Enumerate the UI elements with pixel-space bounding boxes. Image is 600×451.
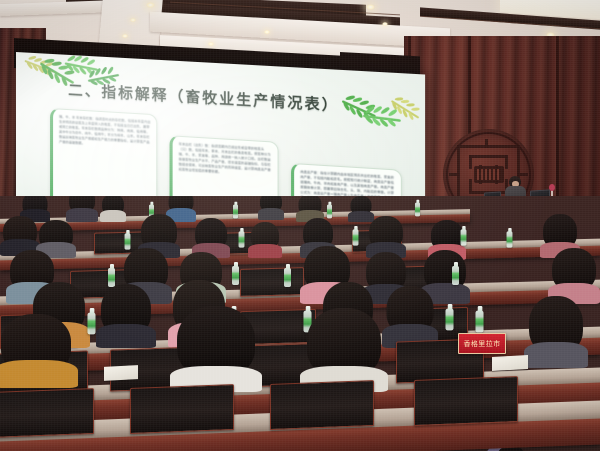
water-bottle bbox=[239, 231, 245, 247]
ceiling-downlight bbox=[366, 4, 375, 10]
water-bottle bbox=[507, 231, 513, 247]
seat-back bbox=[270, 380, 374, 430]
seat-back bbox=[0, 388, 94, 438]
water-bottle bbox=[233, 205, 238, 219]
water-bottle bbox=[461, 229, 467, 245]
water-bottle bbox=[445, 309, 453, 331]
attendee bbox=[0, 314, 78, 388]
conference-room-photo: 二、指标解释（畜牧业生产情况表） 猪、牛、羊 年末存栏数：指调查时点的存栏数，包… bbox=[0, 0, 600, 451]
ceiling-downlight bbox=[122, 34, 128, 38]
attendee bbox=[66, 196, 98, 222]
attendee bbox=[248, 222, 282, 258]
ceiling-downlight bbox=[146, 2, 155, 8]
water-bottle bbox=[232, 266, 239, 285]
paper-handout bbox=[104, 365, 138, 381]
water-bottle bbox=[87, 313, 95, 335]
water-bottle bbox=[284, 268, 291, 287]
ceiling-downlight bbox=[208, 42, 214, 46]
water-bottle bbox=[415, 203, 420, 217]
ceiling-downlight bbox=[382, 22, 388, 26]
slide-card-02-text: 年末出栏（出售）数：指调查期内已经出售或自宰的牲畜头（只）数，包括年末、季末、月… bbox=[179, 142, 273, 178]
seat-back bbox=[414, 376, 518, 426]
attendee bbox=[96, 284, 156, 348]
attendee bbox=[258, 196, 284, 220]
seat-back bbox=[130, 384, 234, 434]
attendee bbox=[524, 296, 588, 368]
attendee bbox=[382, 286, 438, 348]
placard-text: 香格里拉市 bbox=[464, 339, 501, 349]
audience-seating-area bbox=[0, 196, 600, 451]
water-bottle bbox=[353, 229, 359, 245]
seat-back bbox=[240, 267, 304, 297]
attendee bbox=[170, 306, 262, 392]
water-bottle bbox=[452, 266, 459, 285]
slide-card-01-text: 猪、牛、羊 年末存栏数：指调查时点的存栏数，包括本年度内出生并饲养的幼畜及上年度… bbox=[59, 115, 151, 151]
water-bottle bbox=[327, 205, 332, 219]
desk-name-placard: 香格里拉市 bbox=[458, 333, 506, 354]
paper-handout bbox=[492, 355, 528, 371]
attendee bbox=[100, 196, 126, 222]
attendee bbox=[300, 308, 388, 392]
ceiling-downlight bbox=[130, 18, 136, 22]
ceiling-downlight bbox=[264, 30, 270, 34]
water-bottle bbox=[475, 311, 483, 333]
